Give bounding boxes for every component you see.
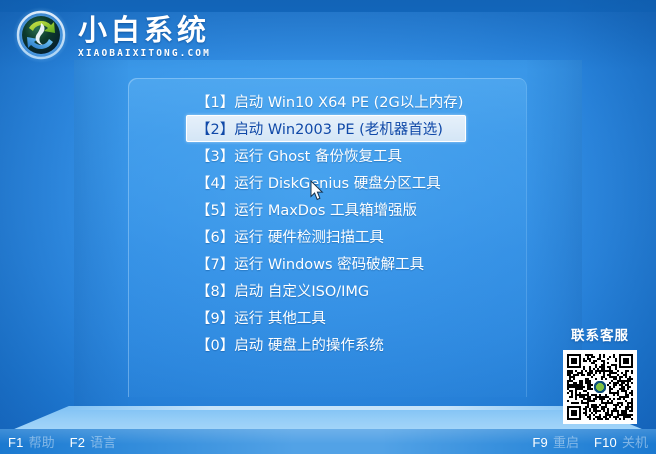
menu-item-label: 【1】启动 Win10 X64 PE (2G以上内存): [196, 91, 463, 112]
contact-service-block[interactable]: 联系客服: [556, 324, 644, 424]
status-keys-left[interactable]: F1帮助F2语言: [8, 430, 126, 454]
menu-item-label: 【4】运行 DiskGenius 硬盘分区工具: [196, 172, 441, 193]
menu-item-label: 【5】运行 MaxDos 工具箱增强版: [196, 199, 417, 220]
menu-item-9[interactable]: 【9】运行 其他工具: [186, 304, 466, 331]
menu-item-6[interactable]: 【6】运行 硬件检测扫描工具: [186, 223, 466, 250]
function-key-f9-label: 重启: [553, 436, 579, 449]
menu-item-7[interactable]: 【7】运行 Windows 密码破解工具: [186, 250, 466, 277]
function-key-f2-code[interactable]: F2: [70, 436, 86, 449]
function-key-f1-label: 帮助: [29, 436, 55, 449]
menu-item-label: 【9】运行 其他工具: [196, 307, 326, 328]
menu-item-label: 【2】启动 Win2003 PE (老机器首选): [196, 118, 443, 139]
menu-item-8[interactable]: 【8】启动 自定义ISO/IMG: [186, 277, 466, 304]
recycle-refresh-circle-icon: [12, 6, 70, 64]
function-key-f1-code[interactable]: F1: [8, 436, 24, 449]
brand-name-cn: 小白系统: [78, 15, 211, 45]
menu-item-4[interactable]: 【4】运行 DiskGenius 硬盘分区工具: [186, 169, 466, 196]
boot-menu-screen: 小白系统 XIAOBAIXITONG.COM 【1】启动 Win10 X64 P…: [0, 0, 656, 454]
contact-service-title: 联系客服: [556, 324, 644, 344]
menu-item-2[interactable]: 【2】启动 Win2003 PE (老机器首选): [186, 115, 466, 142]
menu-item-label: 【8】启动 自定义ISO/IMG: [196, 280, 369, 301]
status-keys-right[interactable]: F9重启F10关机: [532, 430, 648, 454]
qr-code-icon[interactable]: [563, 350, 637, 424]
menu-item-1[interactable]: 【1】启动 Win10 X64 PE (2G以上内存): [186, 88, 466, 115]
menu-item-3[interactable]: 【3】运行 Ghost 备份恢复工具: [186, 142, 466, 169]
function-key-f2-label: 语言: [90, 436, 116, 449]
menu-item-label: 【7】运行 Windows 密码破解工具: [196, 253, 424, 274]
menu-item-label: 【0】启动 硬盘上的操作系统: [196, 334, 384, 355]
brand-text-block: 小白系统 XIAOBAIXITONG.COM: [78, 15, 211, 59]
brand-domain: XIAOBAIXITONG.COM: [78, 48, 211, 59]
menu-item-5[interactable]: 【5】运行 MaxDos 工具箱增强版: [186, 196, 466, 223]
function-key-f10-code[interactable]: F10: [594, 436, 617, 449]
menu-item-0[interactable]: 【0】启动 硬盘上的操作系统: [186, 331, 466, 358]
brand-header: 小白系统 XIAOBAIXITONG.COM: [12, 6, 211, 64]
menu-item-label: 【3】运行 Ghost 备份恢复工具: [196, 145, 402, 166]
boot-menu-list[interactable]: 【1】启动 Win10 X64 PE (2G以上内存)【2】启动 Win2003…: [186, 88, 466, 358]
function-key-f9-code[interactable]: F9: [532, 436, 548, 449]
menu-item-label: 【6】运行 硬件检测扫描工具: [196, 226, 384, 247]
function-key-f10-label: 关机: [622, 436, 648, 449]
